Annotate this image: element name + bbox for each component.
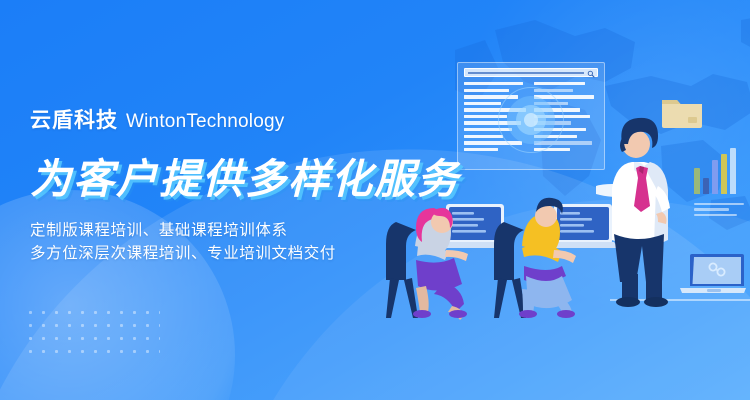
document-column-right: [534, 82, 599, 151]
bar-4: [721, 154, 727, 194]
brand-name-en: WintonTechnology: [126, 111, 284, 133]
document-column-left: [464, 82, 529, 151]
banner-subtext: 定制版课程培训、基础课程培训体系 多方位深层次课程培训、专业培训文档交付: [30, 219, 460, 265]
search-result-window: [457, 62, 605, 170]
banner-subtext-line-2: 多方位深层次课程培训、专业培训文档交付: [30, 242, 460, 265]
banner-headline: 为客户提供多样化服务: [30, 145, 460, 205]
standing-presenter-illustration: [596, 108, 720, 310]
search-input[interactable]: [464, 68, 598, 77]
search-input-text: [468, 72, 584, 74]
document-text-lines: [464, 82, 598, 151]
banner-subtext-line-1: 定制版课程培训、基础课程培训体系: [30, 219, 460, 242]
brand-name-cn: 云盾科技: [30, 104, 118, 134]
promo-banner: 云盾科技 WintonTechnology 为客户提供多样化服务 定制版课程培训…: [0, 0, 750, 400]
brand-lockup: 云盾科技 WintonTechnology: [30, 104, 460, 134]
bar-5: [730, 148, 736, 194]
banner-text-block: 云盾科技 WintonTechnology 为客户提供多样化服务 定制版课程培训…: [30, 104, 460, 265]
dot-grid-pattern: [24, 306, 160, 358]
search-icon[interactable]: [587, 70, 595, 78]
